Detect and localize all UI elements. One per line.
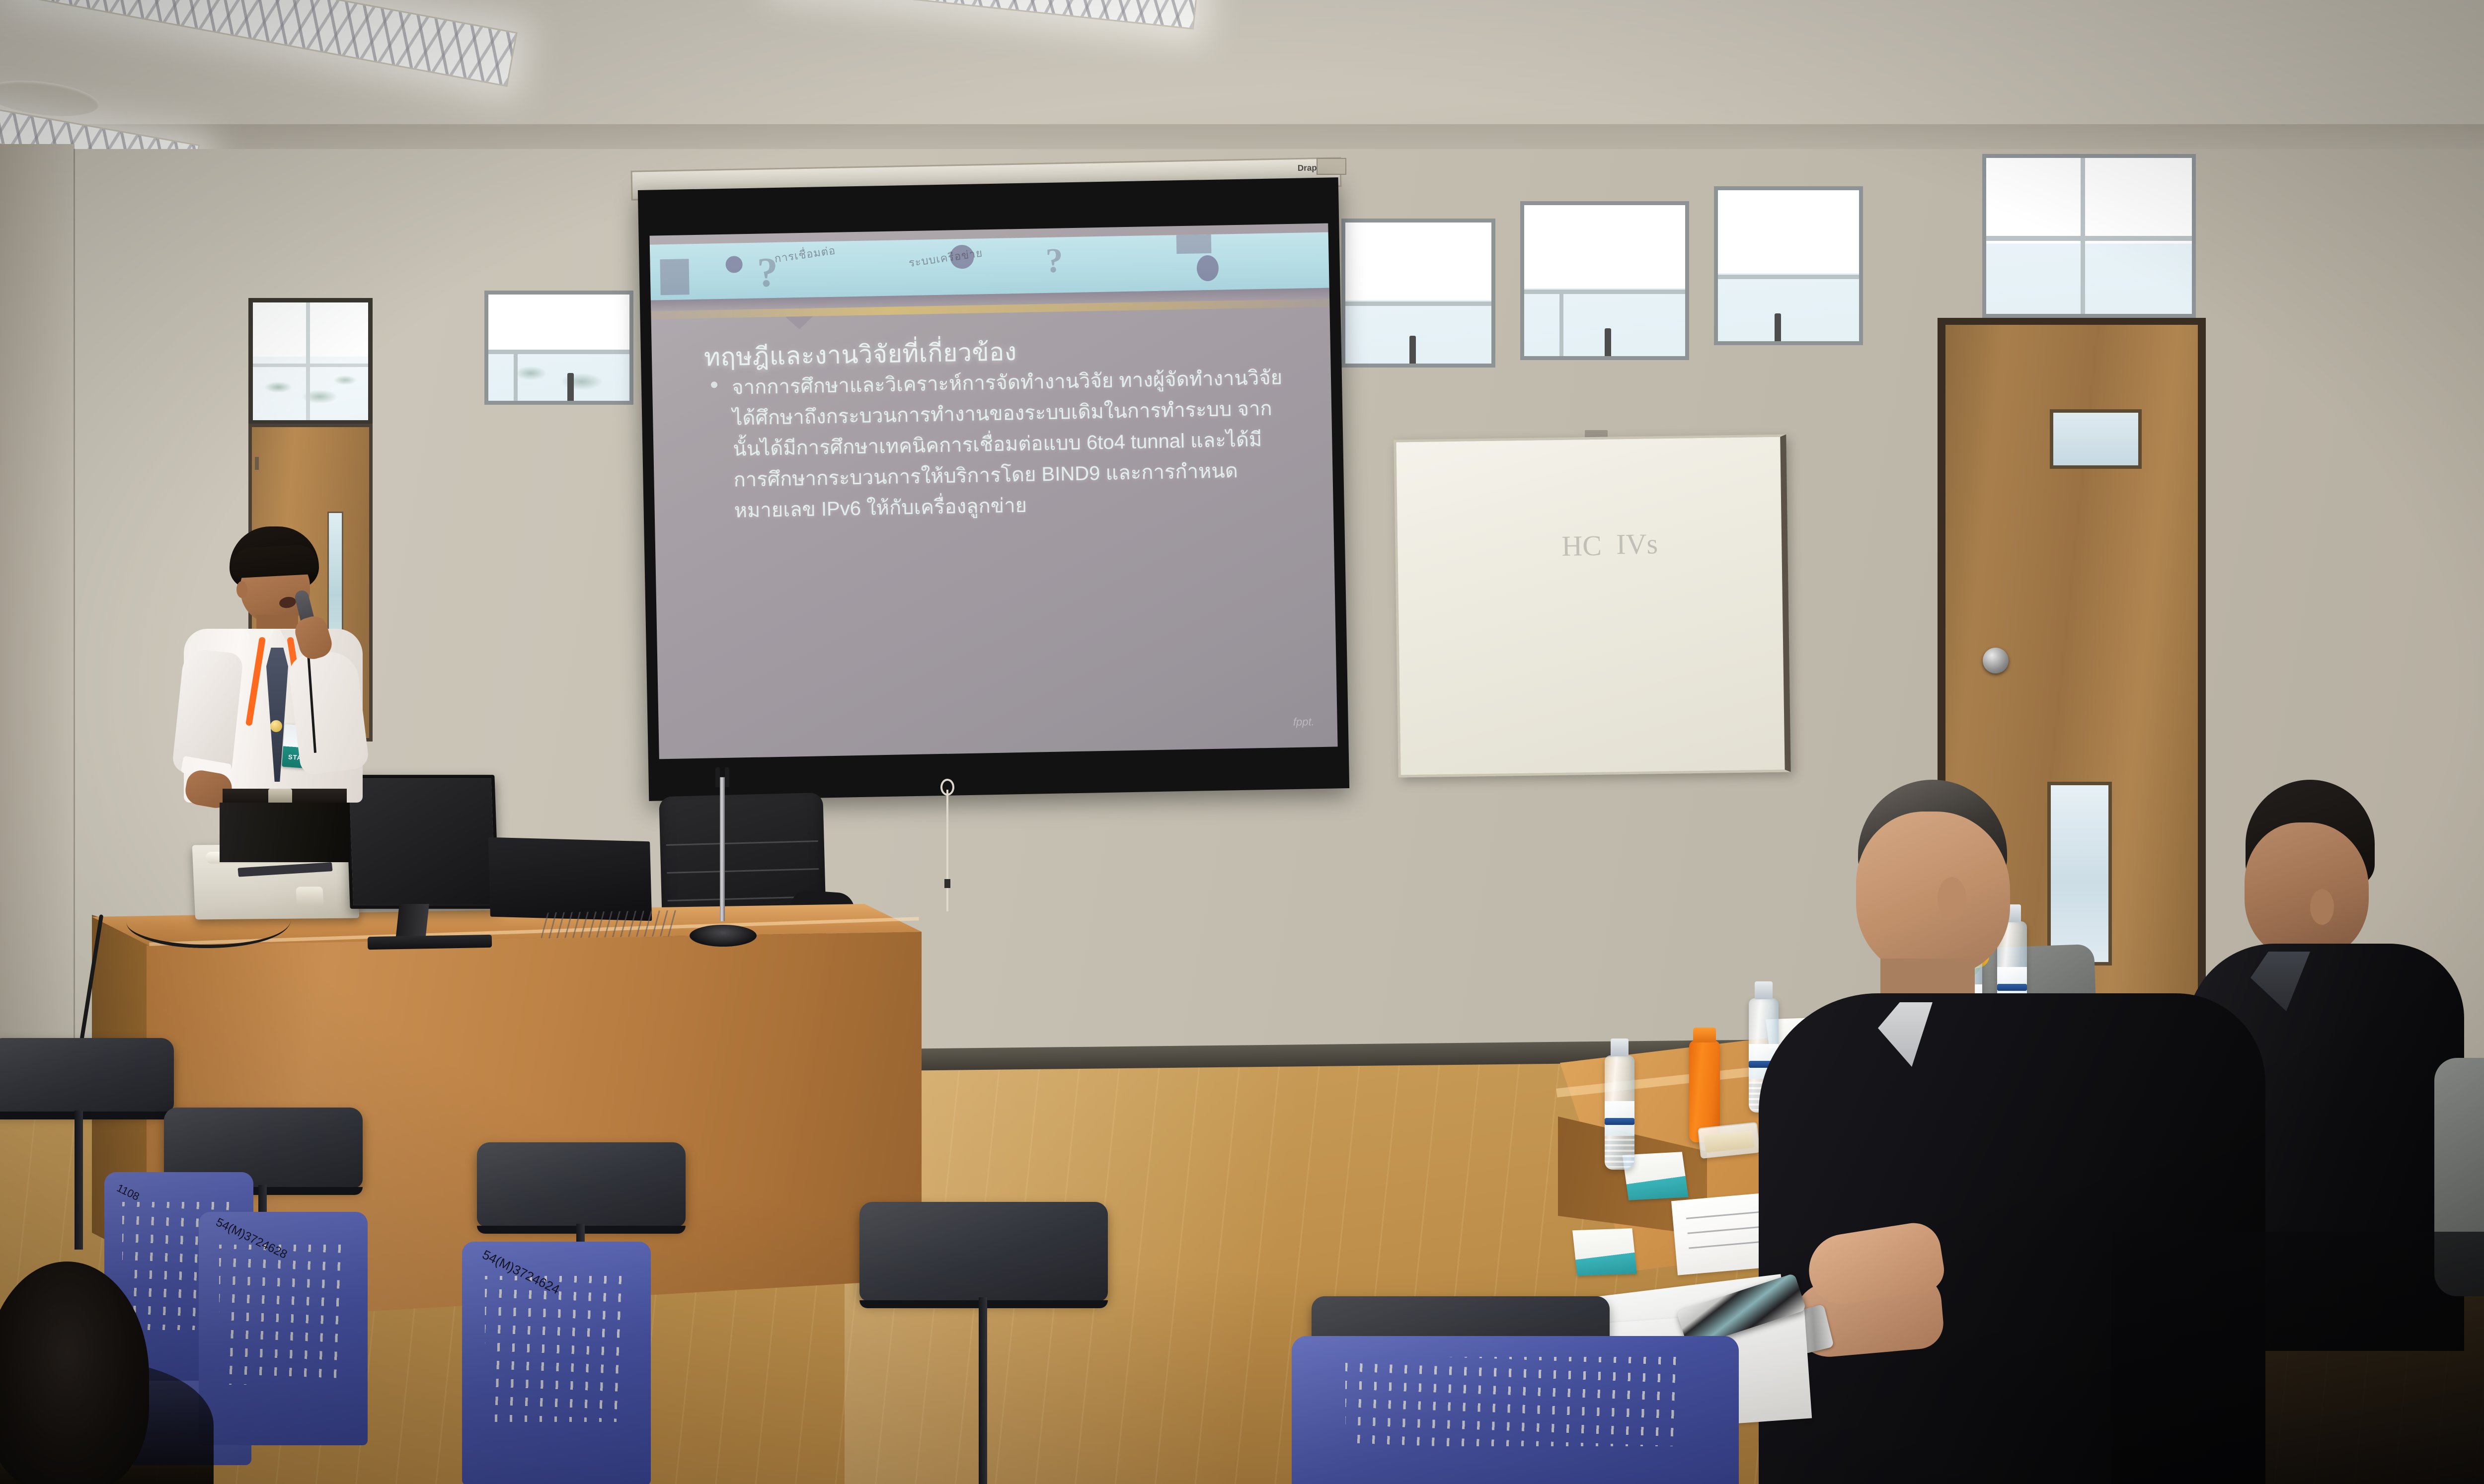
presenter-hair-fringe <box>231 544 319 578</box>
tablet-arm-chair[interactable] <box>859 1202 1187 1484</box>
student-chair[interactable]: 54(M)3724628 <box>199 1212 368 1484</box>
microphone-stand[interactable] <box>715 767 728 931</box>
slide-header-ghost-left: การเชื่อมต่อ <box>773 241 837 267</box>
laptop-screen[interactable] <box>488 837 652 921</box>
microphone-stand-base <box>690 925 757 947</box>
slide-tab-shape <box>785 316 813 330</box>
foreground-shadow-right <box>2111 1232 2484 1484</box>
left-wall-return <box>0 144 75 1063</box>
window-right-3 <box>1714 186 1863 345</box>
whiteboard-ghost-mark: IVs <box>1616 527 1658 561</box>
door-knob-icon[interactable] <box>1983 648 2009 673</box>
student-chair[interactable] <box>1292 1336 1739 1484</box>
slide-watermark: fppt. <box>1293 715 1315 729</box>
lapel-pin-icon <box>270 720 282 732</box>
whiteboard-ghost-mark: HC <box>1561 529 1602 563</box>
presenter-ear <box>236 581 247 598</box>
classroom-scene: Draper ? ? การเชื่อมต่อ ระบบเครือข่าย ทฤ… <box>0 0 2484 1484</box>
door-right-vision-panel <box>2050 409 2142 469</box>
examiner-b-ear <box>2310 889 2334 925</box>
slide-header-ghost-right: ระบบเครือข่าย <box>908 244 984 272</box>
transom-window-left <box>248 298 373 425</box>
screen-bracket <box>1317 158 1346 175</box>
snack-box[interactable] <box>1698 1122 1760 1159</box>
presenter-trousers <box>220 803 350 862</box>
window-right-2 <box>1520 201 1689 360</box>
monitor-stand <box>395 904 429 940</box>
projector-screen: ? ? การเชื่อมต่อ ระบบเครือข่าย ทฤษฎีและง… <box>638 177 1349 801</box>
examiner-a-head <box>1856 812 2010 975</box>
student-chair[interactable]: 54(M)3724624 <box>462 1242 651 1484</box>
presenter: STAFF <box>164 526 378 844</box>
water-bottle[interactable] <box>1605 1055 1634 1170</box>
examiner-a-ear <box>1938 877 1966 920</box>
window-above-right-door <box>1982 154 2196 318</box>
window-right-1 <box>1341 219 1495 368</box>
slide-body-text: จากการศึกษาและวิเคราะห์การจัดทำงานวิจัย … <box>732 362 1291 526</box>
monitor-base <box>368 935 492 950</box>
bullet-dot-icon <box>711 381 717 388</box>
presentation-slide: ? ? การเชื่อมต่อ ระบบเครือข่าย ทฤษฎีและง… <box>650 223 1338 759</box>
chair-asset-number: 1108 <box>115 1182 142 1203</box>
question-mark-icon: ? <box>1045 241 1063 281</box>
keyboard[interactable] <box>541 910 682 939</box>
whiteboard: HC IVs <box>1394 435 1790 778</box>
screen-pull-cord[interactable] <box>946 790 948 911</box>
wall-corner <box>74 149 75 1043</box>
window-left <box>484 291 633 405</box>
name-card-tent <box>1572 1228 1637 1276</box>
